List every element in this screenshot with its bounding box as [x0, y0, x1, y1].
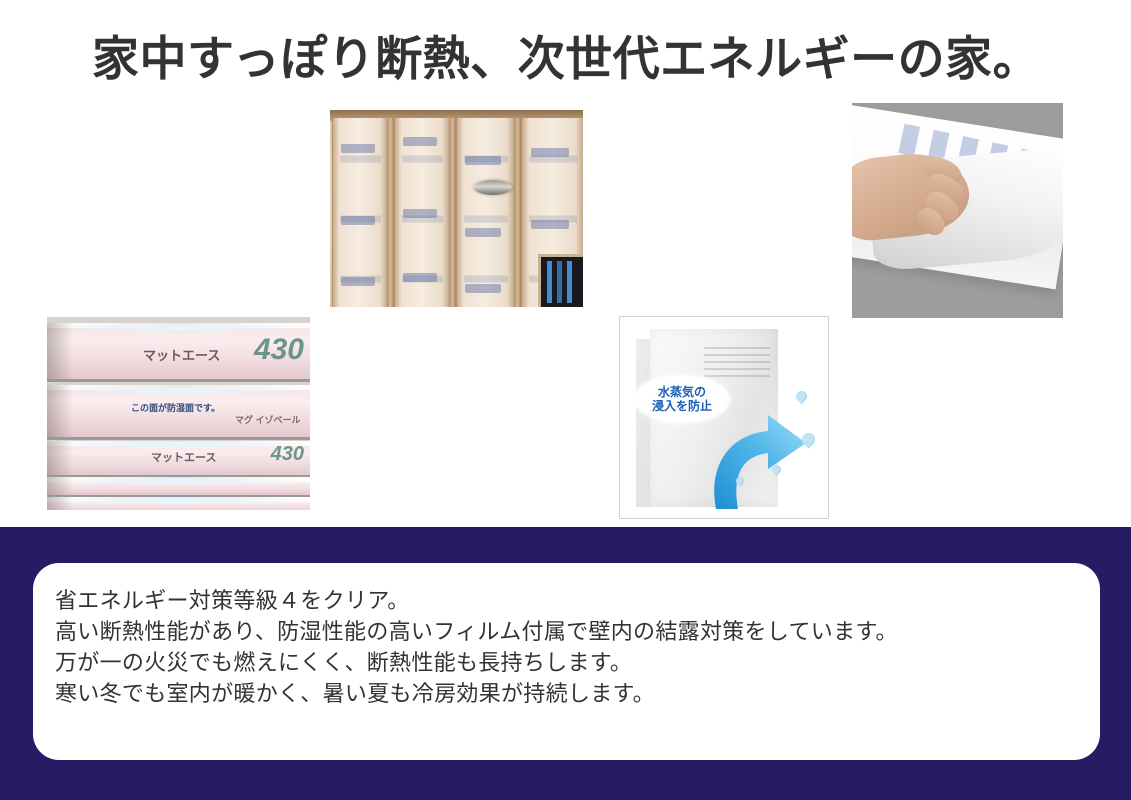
ceiling-product-name: マットエース: [143, 345, 220, 364]
vapor-barrier-photo: 水蒸気の 浸入を防止: [619, 316, 829, 519]
insulation-batt: [394, 118, 451, 307]
slide-root: 家中すっぽり断熱、次世代エネルギーの家。: [0, 0, 1131, 800]
description-line: 万が一の火災でも燃えにくく、断熱性能も長持ちします。: [55, 647, 1082, 678]
wall-vent-opening: [474, 180, 512, 195]
ceiling-mat-row: [47, 477, 310, 498]
ceiling-mat-row: [47, 497, 310, 510]
ceiling-notice-text: この面が防湿面です。: [131, 401, 220, 414]
deflect-arrow-icon: [698, 409, 810, 509]
wall-insulation-illustration: [330, 110, 583, 307]
water-drop-icon: [794, 389, 810, 405]
description-line: 寒い冬でも室内が暖かく、暑い夏も冷房効果が持続します。: [55, 678, 1082, 709]
description-text: 省エネルギー対策等級４をクリア。 高い断熱性能があり、防湿性能の高いフィルム付属…: [55, 585, 1082, 709]
wall-stud: [387, 118, 394, 307]
description-line: 高い断熱性能があり、防湿性能の高いフィルム付属で壁内の結露対策をしています。: [55, 616, 1082, 647]
ceiling-mat-row: マットエース 430: [47, 441, 310, 478]
wall-window-opening: [538, 254, 583, 307]
moisture-film-photo: [852, 103, 1063, 318]
ceiling-product-name: マットエース: [151, 449, 216, 465]
description-line: 省エネルギー対策等級４をクリア。: [55, 585, 1082, 616]
wall-insulation-photo: [330, 110, 583, 307]
wall-stud: [449, 118, 456, 307]
insulation-batt: [456, 118, 516, 307]
ceiling-product-number: 430: [271, 443, 304, 466]
description-card: 省エネルギー対策等級４をクリア。 高い断熱性能があり、防湿性能の高いフィルム付属…: [33, 563, 1100, 760]
ceiling-mat-row: この面が防湿面です。 マグ イゾベール: [47, 385, 310, 440]
description-banner: 省エネルギー対策等級４をクリア。 高い断熱性能があり、防湿性能の高いフィルム付属…: [0, 527, 1131, 800]
ceiling-mat-row: マットエース 430: [47, 323, 310, 382]
wall-stud: [514, 118, 521, 307]
ceiling-mat-photo: マットエース 430 この面が防湿面です。 マグ イゾベール マットエース 43…: [47, 317, 310, 510]
ceiling-product-number: 430: [254, 333, 304, 367]
page-title: 家中すっぽり断熱、次世代エネルギーの家。: [92, 33, 1082, 85]
ceiling-brand-text: マグ イゾベール: [235, 413, 301, 426]
vapor-callout-line-1: 水蒸気の: [658, 385, 706, 399]
insulation-batt: [332, 118, 389, 307]
